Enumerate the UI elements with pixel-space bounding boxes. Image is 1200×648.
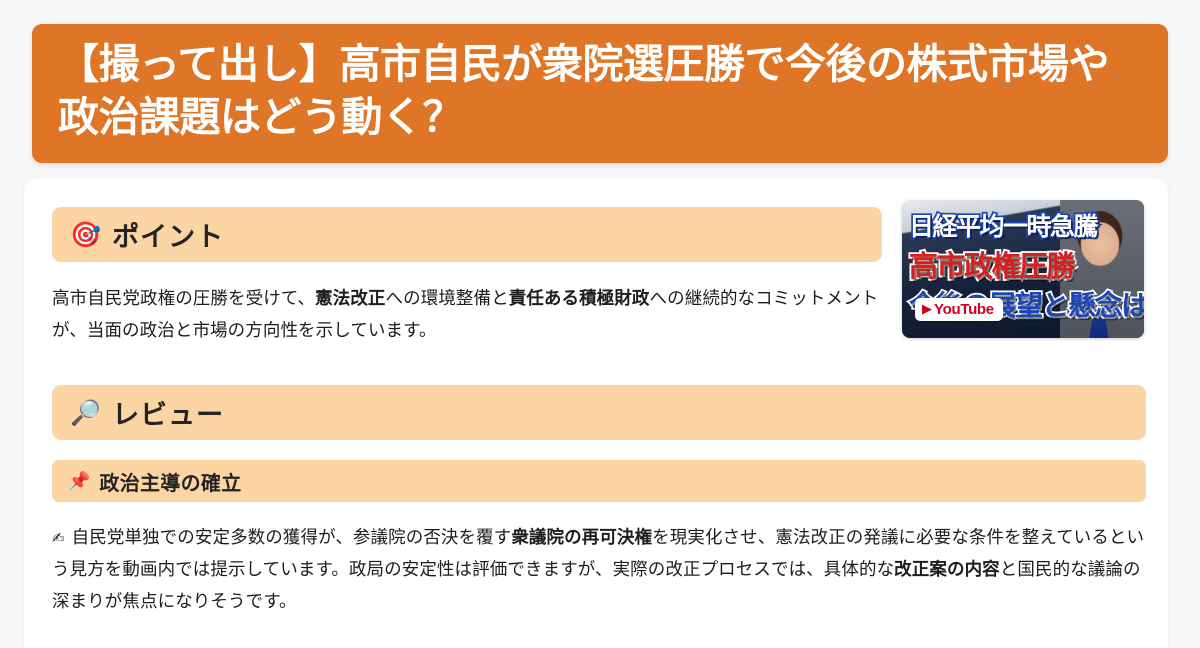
review-paragraph-text: 自民党単独での安定多数の獲得が、参議院の否決を覆す衆議院の再可決権を現実化させ、… bbox=[52, 527, 1144, 611]
section-heading-review: 🔎 レビュー bbox=[52, 385, 1146, 440]
section-heading-point: 🎯 ポイント bbox=[52, 207, 882, 262]
play-icon: ▶ bbox=[922, 303, 932, 316]
page-title: 【撮って出し】高市自民が衆院選圧勝で今後の株式市場や政治課題はどう動く？ bbox=[58, 38, 1142, 145]
youtube-video-thumbnail[interactable]: 日経平均一時急騰 高市政権圧勝 今後の展望と懸念は？ ▶ YouTube bbox=[902, 200, 1144, 338]
article-title-banner: 【撮って出し】高市自民が衆院選圧勝で今後の株式市場や政治課題はどう動く？ bbox=[32, 24, 1168, 163]
section-heading-point-label: ポイント bbox=[112, 215, 224, 254]
subsection-heading-label: 政治主導の確立 bbox=[99, 467, 241, 496]
magnifier-icon: 🔎 bbox=[70, 398, 101, 428]
writing-hand-icon: ✍ bbox=[52, 529, 65, 547]
thumbnail-headline-1: 日経平均一時急騰 bbox=[909, 207, 1097, 243]
page-root: 【撮って出し】高市自民が衆院選圧勝で今後の株式市場や政治課題はどう動く？ 🎯 ポ… bbox=[0, 0, 1200, 630]
pushpin-icon: 📌 bbox=[68, 471, 90, 492]
point-paragraph: 高市自民党政権の圧勝を受けて、憲法改正への環境整備と責任ある積極財政への継続的な… bbox=[52, 282, 886, 346]
review-paragraph: ✍自民党単独での安定多数の獲得が、参議院の否決を覆す衆議院の再可決権を現実化させ… bbox=[52, 521, 1152, 617]
content-card-inner: 🎯 ポイント 高市自民党政権の圧勝を受けて、憲法改正への環境整備と責任ある積極財… bbox=[24, 178, 1168, 648]
youtube-badge-label: YouTube bbox=[934, 301, 994, 318]
thumbnail-headline-2: 高市政権圧勝 bbox=[909, 243, 1074, 285]
youtube-badge[interactable]: ▶ YouTube bbox=[915, 298, 1003, 321]
section-heading-review-label: レビュー bbox=[112, 393, 224, 432]
dart-target-icon: 🎯 bbox=[70, 220, 101, 250]
content-card: 🎯 ポイント 高市自民党政権の圧勝を受けて、憲法改正への環境整備と責任ある積極財… bbox=[24, 178, 1168, 648]
subsection-heading-political-leadership: 📌 政治主導の確立 bbox=[52, 460, 1146, 502]
